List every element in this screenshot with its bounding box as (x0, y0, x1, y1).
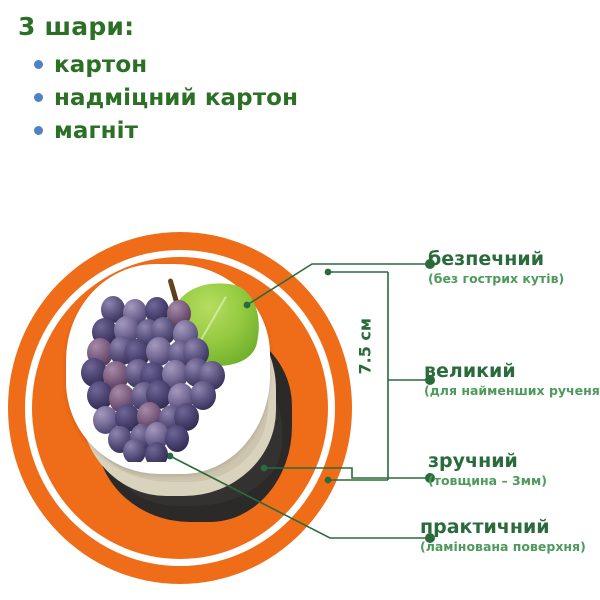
infographic-page: 3 шари: картон надміцний картон магніт (0, 0, 600, 600)
feature-subtitle: (товщина – 3мм) (428, 474, 600, 488)
feature-callout-safe: безпечний (без гострих кутів) (428, 250, 600, 286)
feature-callout-big: великий (для найменших рученят) (424, 362, 599, 398)
product-figure (8, 232, 352, 584)
feature-title: великий (424, 362, 599, 382)
feature-subtitle: (без гострих кутів) (428, 272, 600, 286)
feature-title: практичний (420, 518, 595, 538)
list-item: картон (18, 48, 378, 81)
layer-label: надміцний картон (54, 85, 298, 111)
feature-callout-comfort: зручний (товщина – 3мм) (428, 452, 600, 488)
layers-list: картон надміцний картон магніт (18, 48, 378, 147)
bullet-icon (34, 126, 43, 135)
feature-subtitle: (ламінована поверхня) (420, 540, 595, 554)
feature-title: зручний (428, 452, 600, 472)
feature-callout-practical: практичний (ламінована поверхня) (420, 518, 595, 554)
grape-cluster-artwork (76, 276, 260, 462)
dimension-value: 7.5 см (356, 349, 375, 375)
grape-berry (165, 425, 189, 452)
grape-berry (123, 439, 146, 462)
feature-subtitle: (для найменших рученят) (424, 384, 599, 398)
bullet-icon (34, 93, 43, 102)
list-item: надміцний картон (18, 81, 378, 114)
layer-label: магніт (54, 118, 138, 144)
list-item: магніт (18, 114, 378, 147)
paper-white-layer (66, 264, 270, 474)
layer-label: картон (54, 52, 147, 78)
bullet-icon (34, 60, 43, 69)
feature-title: безпечний (428, 250, 600, 270)
grape-berry (145, 442, 168, 462)
page-title: 3 шари: (18, 12, 378, 42)
magnet-layer-stack (66, 264, 304, 536)
layers-header-block: 3 шари: картон надміцний картон магніт (18, 12, 378, 147)
